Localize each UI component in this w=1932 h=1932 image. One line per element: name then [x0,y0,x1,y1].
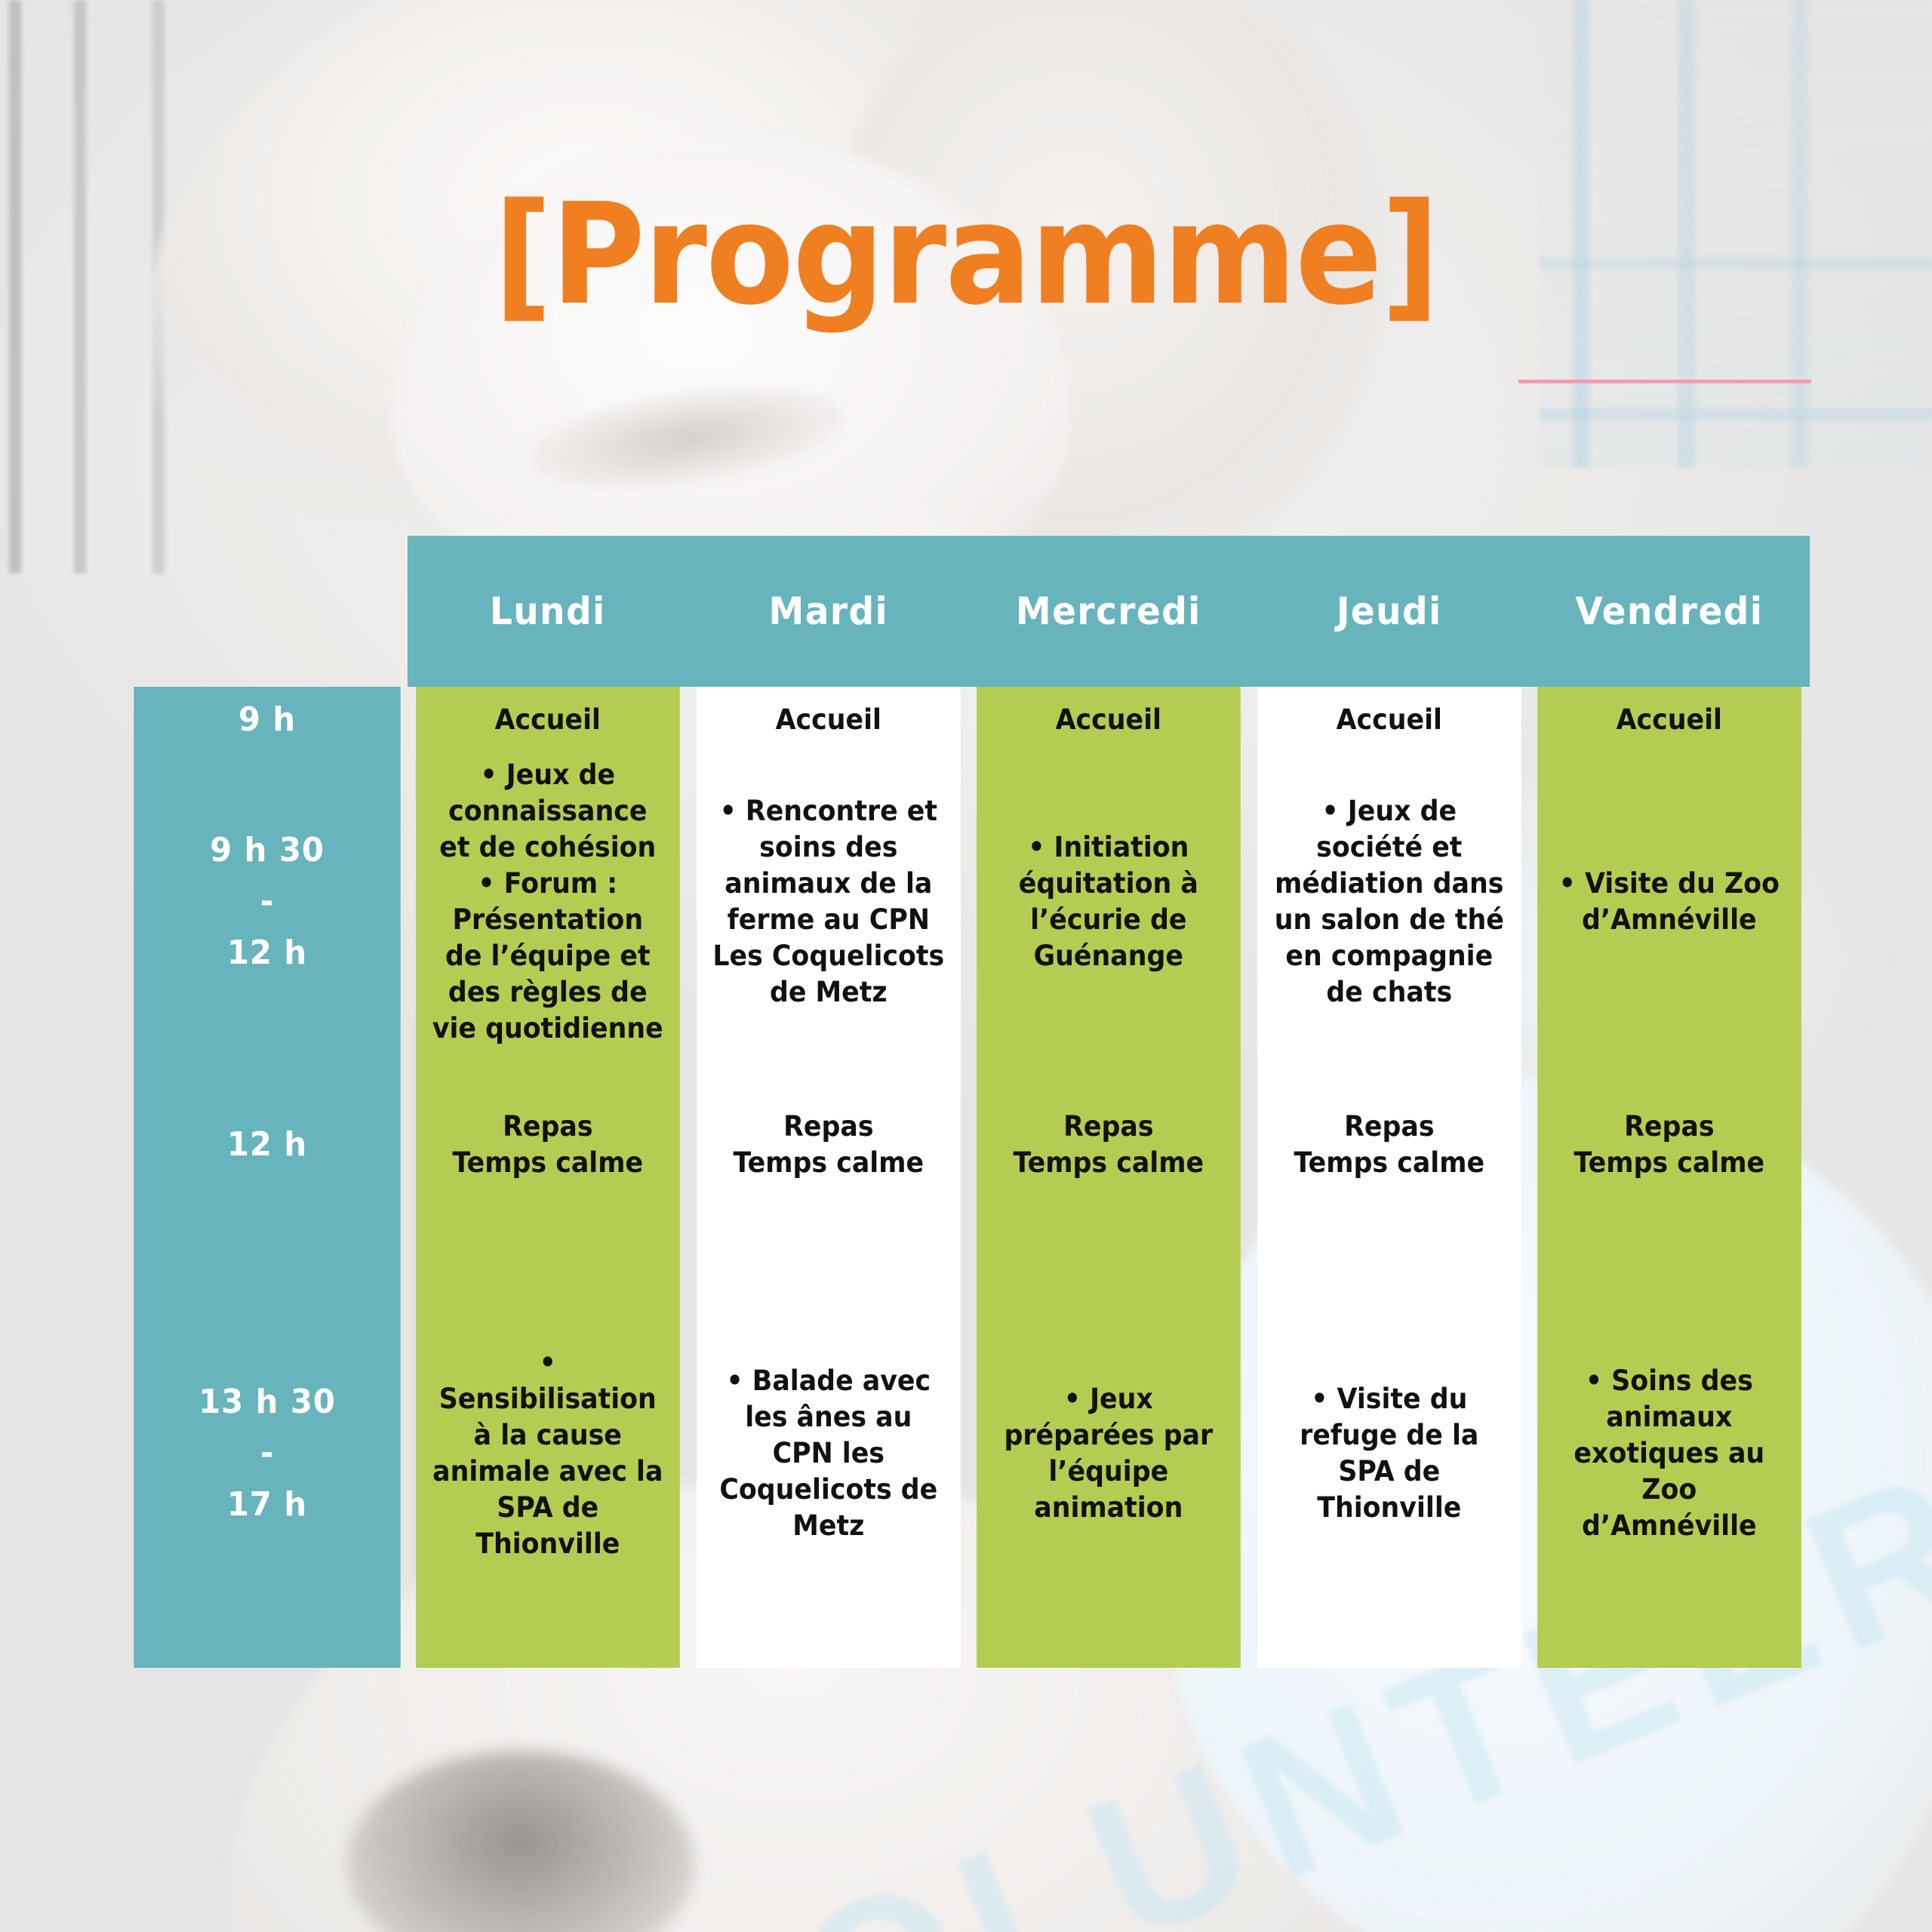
cell-text: • Jeux préparées par l’équipe animation [992,1381,1225,1526]
cell-text: Repas Temps calme [1273,1109,1506,1181]
cell-text: • Visite du Zoo d’Amnéville [1553,866,1786,938]
cell-jeudi-matin: • Jeux de société et médiation dans un s… [1257,753,1521,1051]
header-cell-lundi: Lundi [416,536,679,687]
cell-mercredi-matin: • Initiation équitation à l’écurie de Gu… [977,753,1240,1051]
cell-lundi-apresmidi: • Sensibilisation à la cause animale ave… [416,1239,679,1668]
time-label-line: 17 h [227,1479,307,1531]
cell-mardi-matin: • Rencontre et soins des animaux de la f… [697,753,960,1051]
cell-mercredi-repas: Repas Temps calme [977,1051,1240,1239]
table-header-row: Lundi Mardi Mercredi Jeudi Vendredi [408,536,1810,687]
cell-text: • Balade avec les ânes au CPN les Coquel… [712,1363,944,1544]
cell-mercredi-apresmidi: • Jeux préparées par l’équipe animation [977,1239,1240,1668]
cell-vendredi-matin: • Visite du Zoo d’Amnéville [1538,753,1801,1051]
page-title: [Programme] [77,185,1854,325]
time-cell-12h: 12 h [134,1051,400,1239]
time-cell-9h30-12h: 9 h 30 - 12 h [134,753,400,1051]
cell-jeudi-repas: Repas Temps calme [1257,1051,1521,1239]
time-label-line: 9 h [238,694,296,746]
cell-lundi-repas: Repas Temps calme [416,1051,679,1239]
cell-mardi-apresmidi: • Balade avec les ânes au CPN les Coquel… [697,1239,960,1668]
time-label-dash: - [260,1428,274,1479]
cell-jeudi-9h: Accueil [1257,687,1521,753]
cell-jeudi-apresmidi: • Visite du refuge de la SPA de Thionvil… [1257,1239,1521,1668]
header-cell-vendredi: Vendredi [1538,536,1801,687]
cell-text: Accueil [992,702,1225,738]
cell-text: • Jeux de connaissance et de cohésion • … [432,757,664,1048]
cell-lundi-matin: • Jeux de connaissance et de cohésion • … [416,753,679,1051]
time-cell-9h: 9 h [134,687,400,753]
cell-vendredi-apresmidi: • Soins des animaux exotiques au Zoo d’A… [1538,1239,1801,1668]
cell-text: • Visite du refuge de la SPA de Thionvil… [1273,1381,1506,1526]
pink-accent-rule [1518,380,1811,383]
cell-text: Repas Temps calme [432,1109,664,1181]
cell-text: • Jeux de société et médiation dans un s… [1273,793,1506,1011]
time-cell-13h30-17h: 13 h 30 - 17 h [134,1239,400,1668]
time-label-line: 9 h 30 [210,825,325,876]
cell-lundi-9h: Accueil [416,687,679,753]
cell-text: Accueil [1273,702,1506,738]
cell-mardi-repas: Repas Temps calme [697,1051,960,1239]
cell-text: • Initiation équitation à l’écurie de Gu… [992,829,1225,974]
cell-text: Accueil [432,702,664,738]
cell-text: Repas Temps calme [1553,1109,1786,1181]
cell-text: • Soins des animaux exotiques au Zoo d’A… [1553,1363,1786,1544]
cell-text: Repas Temps calme [992,1109,1225,1181]
header-cell-mardi: Mardi [697,536,960,687]
cell-text: Accueil [1553,702,1786,738]
header-cell-jeudi: Jeudi [1257,536,1521,687]
cell-vendredi-9h: Accueil [1538,687,1801,753]
schedule-table: Lundi Mardi Mercredi Jeudi Vendredi 9 h … [127,536,1810,1668]
cell-text: Repas Temps calme [712,1109,944,1181]
cell-mercredi-9h: Accueil [977,687,1240,753]
cell-vendredi-repas: Repas Temps calme [1538,1051,1801,1239]
cell-text: Accueil [712,702,944,738]
header-cell-mercredi: Mercredi [977,536,1240,687]
cell-text: • Rencontre et soins des animaux de la f… [712,793,944,1011]
time-label-dash: - [260,876,274,928]
cell-text: • Sensibilisation à la cause animale ave… [432,1345,664,1563]
time-label-line: 12 h [227,928,307,979]
time-label-line: 12 h [227,1119,307,1171]
table-body-grid: 9 h Accueil Accueil Accueil Accueil Accu… [127,687,1810,1668]
cell-mardi-9h: Accueil [697,687,960,753]
time-label-line: 13 h 30 [198,1377,336,1428]
